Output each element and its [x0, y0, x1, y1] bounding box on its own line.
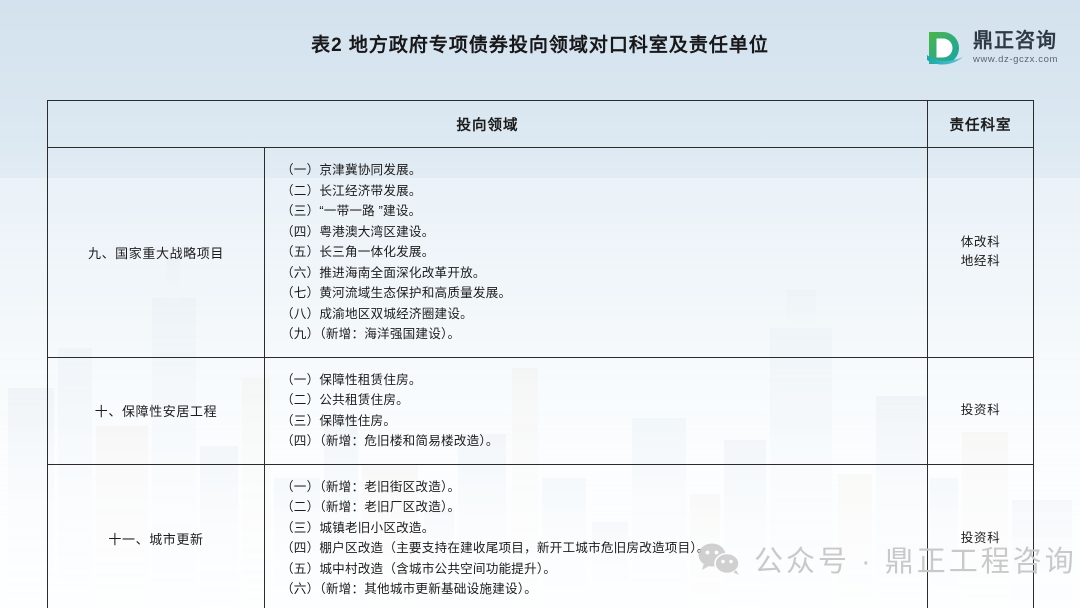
items-cell: （一）京津冀协同发展。（二）长江经济带发展。（三）“一带一路 ”建设。（四）粤港… [265, 148, 928, 358]
item-line: （四）棚户区改造（主要支持在建收尾项目，新开工城市危旧房改造项目）。 [281, 538, 927, 559]
policy-table-wrapper: 投向领域 责任科室 九、国家重大战略项目（一）京津冀协同发展。（二）长江经济带发… [47, 100, 1033, 608]
policy-table: 投向领域 责任科室 九、国家重大战略项目（一）京津冀协同发展。（二）长江经济带发… [47, 100, 1034, 608]
dept-cell: 体改科地经科 [928, 148, 1034, 358]
category-cell: 十、保障性安居工程 [48, 357, 265, 464]
category-cell: 十一、城市更新 [48, 464, 265, 608]
brand-logo: 鼎正咨询 www.dz-gczx.com [925, 28, 1058, 68]
logo-company-name: 鼎正咨询 [973, 31, 1058, 51]
dept-cell: 投资科 [928, 464, 1034, 608]
dept-line: 投资科 [932, 529, 1029, 548]
item-line: （三）“一带一路 ”建设。 [281, 201, 927, 222]
dept-line: 体改科 [932, 233, 1029, 252]
item-line: （六）（新增：其他城市更新基础设施建设）。 [281, 579, 927, 600]
items-cell: （一）（新增：老旧街区改造）。（二）（新增：老旧厂区改造）。（三）城镇老旧小区改… [265, 464, 928, 608]
table-row: 九、国家重大战略项目（一）京津冀协同发展。（二）长江经济带发展。（三）“一带一路… [48, 148, 1034, 358]
item-line: （五）城中村改造（含城市公共空间功能提升）。 [281, 559, 927, 580]
item-line: （一）（新增：老旧街区改造）。 [281, 477, 927, 498]
category-cell: 九、国家重大战略项目 [48, 148, 265, 358]
dept-cell: 投资科 [928, 357, 1034, 464]
dingzheng-d-logo-icon [925, 28, 965, 68]
item-line: （二）公共租赁住房。 [281, 390, 927, 411]
logo-website-url: www.dz-gczx.com [973, 55, 1058, 65]
item-line: （六）推进海南全面深化改革开放。 [281, 263, 927, 284]
header-field: 投向领域 [48, 101, 928, 148]
items-cell: （一）保障性租赁住房。（二）公共租赁住房。（三）保障性住房。（四）（新增：危旧楼… [265, 357, 928, 464]
dept-line: 投资科 [932, 401, 1029, 420]
slide-page: 表2 地方政府专项债券投向领域对口科室及责任单位 [0, 0, 1080, 608]
dept-line: 地经科 [932, 252, 1029, 271]
page-title: 表2 地方政府专项债券投向领域对口科室及责任单位 [0, 32, 1080, 60]
item-line: （九）（新增：海洋强国建设）。 [281, 324, 927, 345]
table-header-row: 投向领域 责任科室 [48, 101, 1034, 148]
header-dept: 责任科室 [928, 101, 1034, 148]
item-line: （一）京津冀协同发展。 [281, 160, 927, 181]
item-line: （八）成渝地区双城经济圈建设。 [281, 304, 927, 325]
item-line: （三）保障性住房。 [281, 411, 927, 432]
item-line: （四）粤港澳大湾区建设。 [281, 222, 927, 243]
table-body: 九、国家重大战略项目（一）京津冀协同发展。（二）长江经济带发展。（三）“一带一路… [48, 148, 1034, 608]
item-line: （七）黄河流域生态保护和高质量发展。 [281, 283, 927, 304]
item-line: （二）长江经济带发展。 [281, 181, 927, 202]
item-line: （五）长三角一体化发展。 [281, 242, 927, 263]
item-line: （一）保障性租赁住房。 [281, 370, 927, 391]
item-line: （四）（新增：危旧楼和简易楼改造）。 [281, 431, 927, 452]
table-row: 十、保障性安居工程（一）保障性租赁住房。（二）公共租赁住房。（三）保障性住房。（… [48, 357, 1034, 464]
item-line: （三）城镇老旧小区改造。 [281, 518, 927, 539]
table-row: 十一、城市更新（一）（新增：老旧街区改造）。（二）（新增：老旧厂区改造）。（三）… [48, 464, 1034, 608]
item-line: （二）（新增：老旧厂区改造）。 [281, 497, 927, 518]
